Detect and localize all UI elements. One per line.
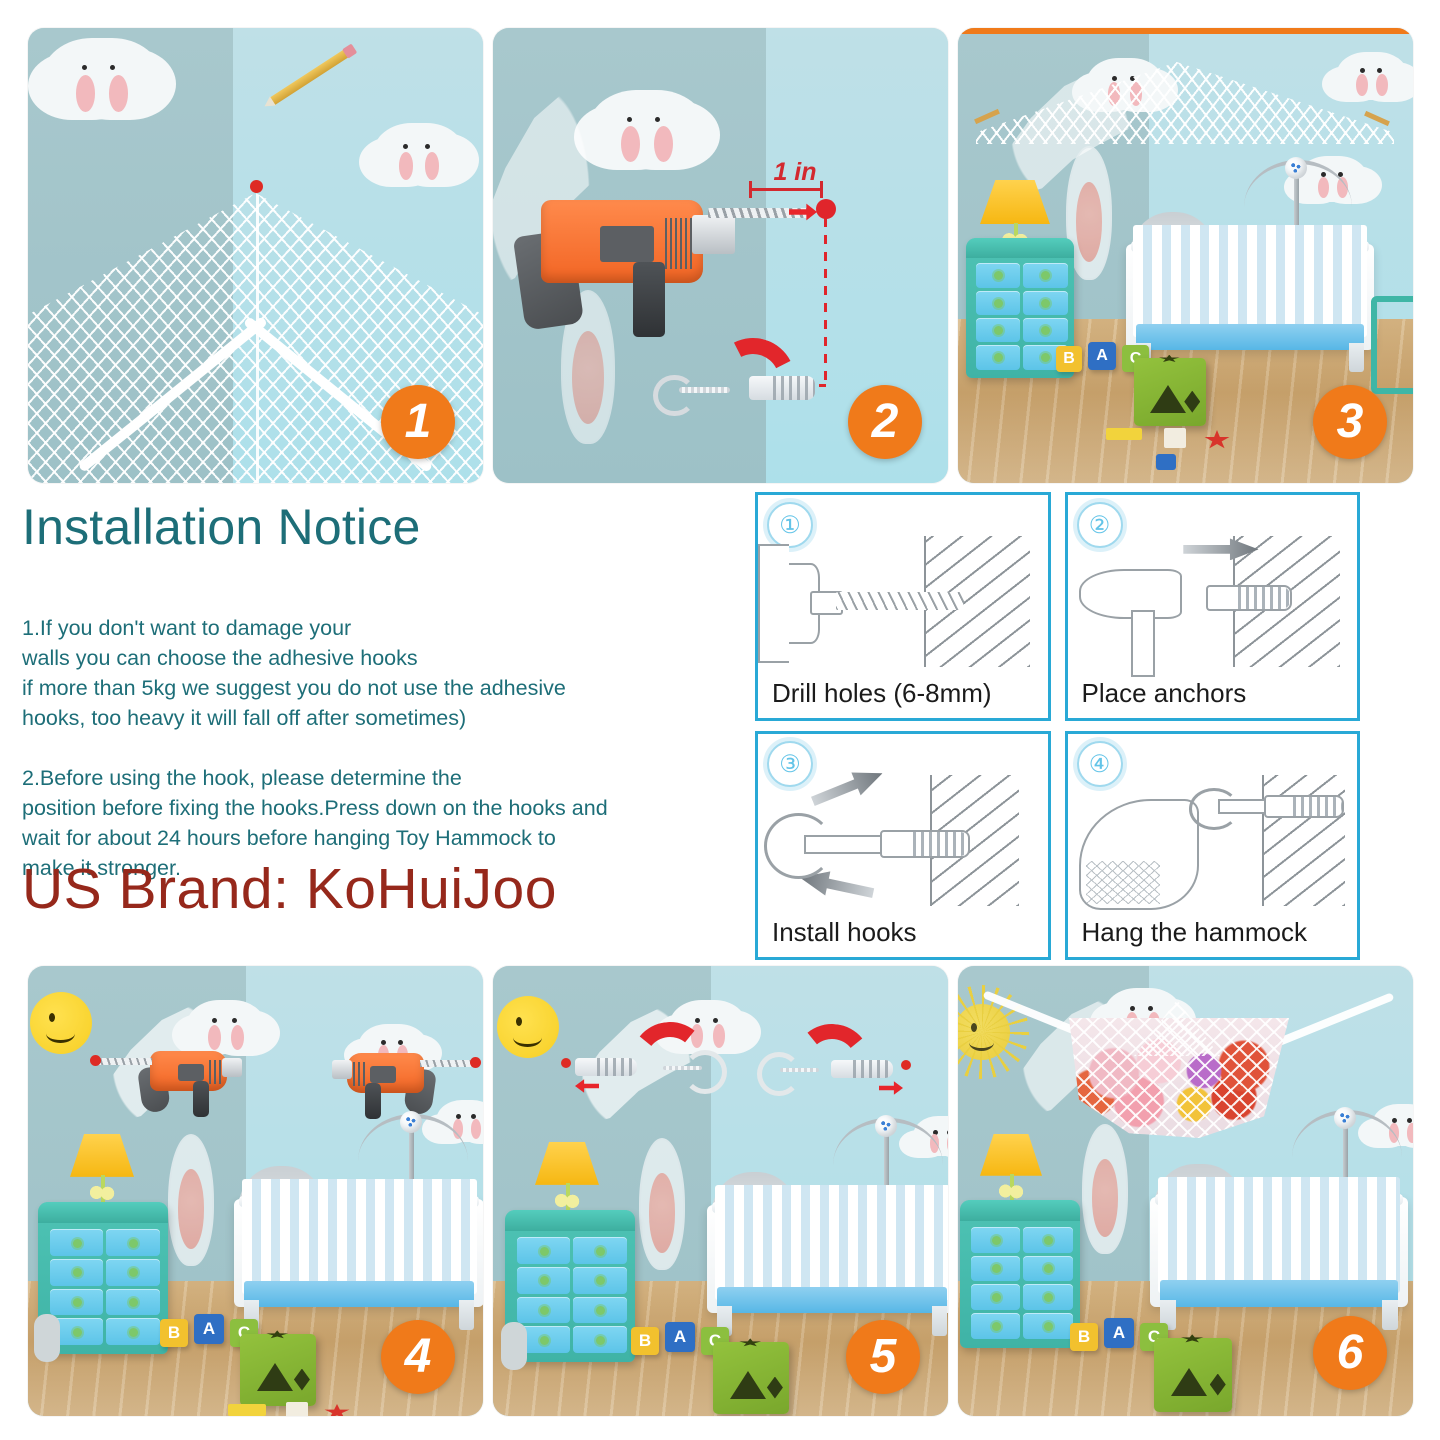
infographic-canvas: 1 1 in 2 bbox=[0, 0, 1440, 1440]
shape-sorter-box bbox=[713, 1342, 789, 1414]
photo-step-5: B A C 5 bbox=[493, 966, 948, 1416]
gray-arrow-cw-icon bbox=[808, 762, 887, 813]
corner-shelf bbox=[1371, 296, 1413, 394]
dresser bbox=[960, 1200, 1080, 1348]
anchor-outline bbox=[880, 830, 971, 859]
shape-sorter-box bbox=[240, 1334, 316, 1406]
step-badge-label: 2 bbox=[872, 398, 899, 446]
stork-bundle-decal bbox=[1082, 1124, 1128, 1254]
baby-crib bbox=[1126, 212, 1374, 372]
sun-decal bbox=[958, 1004, 1010, 1060]
photo-step-2: 1 in 2 bbox=[493, 28, 948, 483]
drill-bit-left bbox=[94, 1058, 152, 1065]
distance-callout: 1 in bbox=[755, 158, 835, 190]
step-badge-1: 1 bbox=[381, 385, 455, 459]
distance-rule bbox=[749, 188, 823, 191]
block-A: A bbox=[1088, 342, 1116, 370]
hammock-net-outline bbox=[1079, 799, 1199, 910]
photo-step-4: B A C 4 bbox=[28, 966, 483, 1416]
white-block-toy bbox=[286, 1402, 308, 1416]
cloud-bunny-decal bbox=[1336, 52, 1408, 100]
block-A: A bbox=[1104, 1318, 1134, 1348]
anchor-target-dot bbox=[816, 199, 836, 219]
step-badge-label: 1 bbox=[405, 398, 432, 446]
step-badge-6: 6 bbox=[1313, 1316, 1387, 1390]
stork-bundle-decal bbox=[639, 1138, 685, 1270]
shape-sorter-box bbox=[1154, 1338, 1232, 1412]
page-title: Installation Notice bbox=[22, 498, 420, 556]
step-badge-label: 6 bbox=[1337, 1329, 1364, 1377]
block-B: B bbox=[1070, 1323, 1098, 1351]
hammer-handle-outline bbox=[1131, 610, 1155, 677]
diagram-art-hang bbox=[1068, 772, 1358, 909]
diagram-place-anchors: ② Place anchors bbox=[1065, 492, 1361, 721]
white-block-toy bbox=[1164, 428, 1186, 448]
block-B: B bbox=[160, 1319, 188, 1347]
sun-decal bbox=[30, 992, 92, 1054]
diagram-hang-hammock: ④ Hang the hammock bbox=[1065, 731, 1361, 960]
yellow-wedge-toy bbox=[1106, 428, 1142, 440]
anchor-outline bbox=[1206, 585, 1291, 611]
stork-bundle-decal bbox=[168, 1134, 214, 1266]
step-badge-3: 3 bbox=[1313, 385, 1387, 459]
distance-tick-right bbox=[820, 181, 823, 198]
shape-sorter-box bbox=[1134, 358, 1206, 426]
notice-paragraph-1: 1.If you don't want to damage your walls… bbox=[22, 616, 566, 730]
dashed-guide-line bbox=[824, 218, 827, 386]
orange-top-strip bbox=[958, 28, 1413, 34]
step-badge-label: 5 bbox=[870, 1333, 897, 1381]
photo-step-3: B A C 3 bbox=[958, 28, 1413, 483]
diagram-art-hammer bbox=[1068, 533, 1358, 670]
target-dot-left bbox=[561, 1058, 571, 1068]
diagram-art-hook bbox=[758, 772, 1048, 909]
distance-tick-left bbox=[749, 181, 752, 198]
step-badge-5: 5 bbox=[846, 1320, 920, 1394]
power-drill-right bbox=[314, 1038, 442, 1124]
cloud-bunny-decal bbox=[588, 90, 706, 168]
drill-body-outline bbox=[758, 544, 789, 663]
diagram-drill-holes: ① Drill holes (6-8mm) bbox=[755, 492, 1051, 721]
block-A: A bbox=[665, 1322, 695, 1352]
diagram-caption-1: Drill holes (6-8mm) bbox=[772, 678, 992, 709]
power-drill-left bbox=[132, 1036, 260, 1122]
photo-step-1: 1 bbox=[28, 28, 483, 483]
sun-decal bbox=[497, 996, 559, 1058]
brand-line: US Brand: KoHuiJoo bbox=[22, 856, 557, 922]
step-badge-4: 4 bbox=[381, 1320, 455, 1394]
line-art-step-grid: ① Drill holes (6-8mm) ② Place anchors bbox=[755, 492, 1360, 960]
cloud-bunny-decal bbox=[42, 38, 162, 118]
baby-crib bbox=[234, 1166, 483, 1330]
diagram-caption-4: Hang the hammock bbox=[1082, 917, 1307, 948]
block-A: A bbox=[194, 1314, 224, 1344]
power-drill-illustration bbox=[503, 168, 773, 348]
anchor-left bbox=[575, 1058, 637, 1076]
diagram-art-drill bbox=[758, 533, 1048, 670]
target-dot-right bbox=[901, 1060, 911, 1070]
drill-target-dot-right bbox=[470, 1057, 481, 1068]
diagram-caption-3: Install hooks bbox=[772, 917, 917, 948]
anchor-outline bbox=[1264, 795, 1343, 818]
baby-crib bbox=[1150, 1164, 1408, 1330]
block-B: B bbox=[1056, 346, 1082, 372]
drill-target-dot-left bbox=[90, 1055, 101, 1066]
table-lamp bbox=[70, 1134, 134, 1208]
plush-toy bbox=[34, 1314, 60, 1362]
step-badge-label: 3 bbox=[1337, 398, 1364, 446]
yellow-wedge-toy bbox=[228, 1404, 266, 1416]
cloud-bunny-decal bbox=[373, 123, 465, 185]
photo-step-6: B A C 6 bbox=[958, 966, 1413, 1416]
baby-crib bbox=[707, 1172, 948, 1336]
diagram-caption-2: Place anchors bbox=[1082, 678, 1247, 709]
block-B: B bbox=[631, 1327, 659, 1355]
table-lamp bbox=[535, 1142, 599, 1216]
blue-gear-toy bbox=[1156, 454, 1176, 470]
step-badge-2: 2 bbox=[848, 385, 922, 459]
table-lamp bbox=[980, 1134, 1042, 1206]
mark-dot bbox=[250, 180, 263, 193]
plush-toy bbox=[501, 1322, 527, 1370]
drill-bit-outline bbox=[836, 592, 963, 610]
diagram-install-hooks: ③ Install hooks bbox=[755, 731, 1051, 960]
step-badge-label: 4 bbox=[405, 1333, 432, 1381]
hook-shaft-outline bbox=[804, 835, 889, 854]
